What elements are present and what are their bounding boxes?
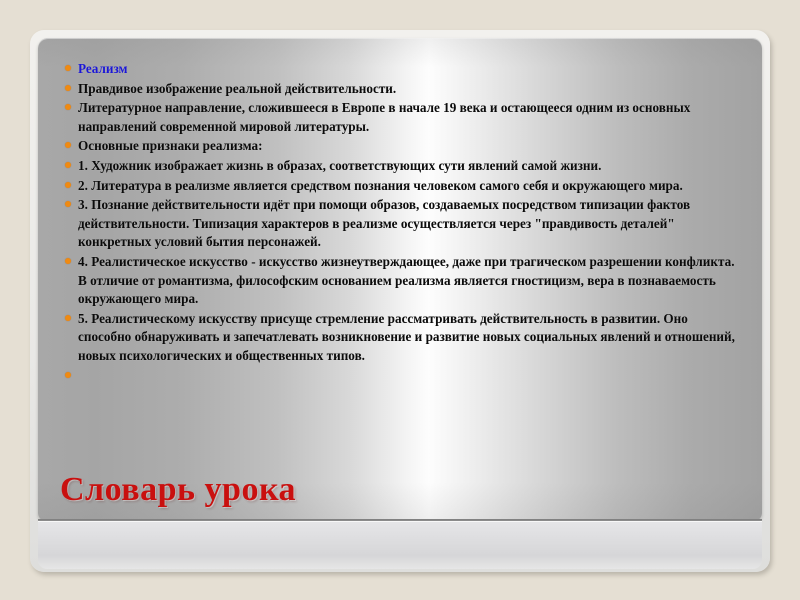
list-item: 4. Реалистическое искусство - искусство … [62, 253, 738, 309]
list-item: 3. Познание действительности идёт при по… [62, 196, 738, 252]
page-title: Словарь урока [60, 471, 296, 509]
list-item: Основные признаки реализма: [62, 137, 738, 156]
list-item-text: Литературное направление, сложившееся в … [78, 100, 690, 134]
list-item [62, 367, 738, 385]
list-item: Реализм [62, 60, 738, 79]
slide-frame: Реализм Правдивое изображение реальной д… [30, 30, 770, 572]
bullet-list: Реализм Правдивое изображение реальной д… [62, 60, 738, 386]
slide-footer-band [38, 521, 762, 569]
list-item: 1. Художник изображает жизнь в образах, … [62, 157, 738, 176]
list-item-text: Реализм [78, 61, 128, 76]
bullet-dot-icon [65, 85, 71, 91]
bullet-dot-icon [65, 372, 71, 378]
list-item-text: Основные признаки реализма: [78, 138, 263, 153]
list-item: Правдивое изображение реальной действите… [62, 80, 738, 99]
list-item-text: Правдивое изображение реальной действите… [78, 81, 396, 96]
list-item: 2. Литература в реализме является средст… [62, 177, 738, 196]
list-item-text: 4. Реалистическое искусство - искусство … [78, 254, 735, 306]
list-item-text: 1. Художник изображает жизнь в образах, … [78, 158, 601, 173]
title-area: Словарь урока [38, 449, 762, 521]
bullet-dot-icon [65, 182, 71, 188]
bullet-dot-icon [65, 162, 71, 168]
list-item-text: 3. Познание действительности идёт при по… [78, 197, 690, 249]
bullet-dot-icon [65, 65, 71, 71]
bullet-dot-icon [65, 258, 71, 264]
bullet-dot-icon [65, 201, 71, 207]
bullet-dot-icon [65, 142, 71, 148]
list-item-text: 5. Реалистическому искусству присуще стр… [78, 311, 735, 363]
bullet-dot-icon [65, 315, 71, 321]
list-item-text: 2. Литература в реализме является средст… [78, 178, 683, 193]
list-item: 5. Реалистическому искусству присуще стр… [62, 310, 738, 366]
list-item: Литературное направление, сложившееся в … [62, 99, 738, 136]
bullet-dot-icon [65, 104, 71, 110]
slide-content-panel: Реализм Правдивое изображение реальной д… [38, 38, 762, 521]
